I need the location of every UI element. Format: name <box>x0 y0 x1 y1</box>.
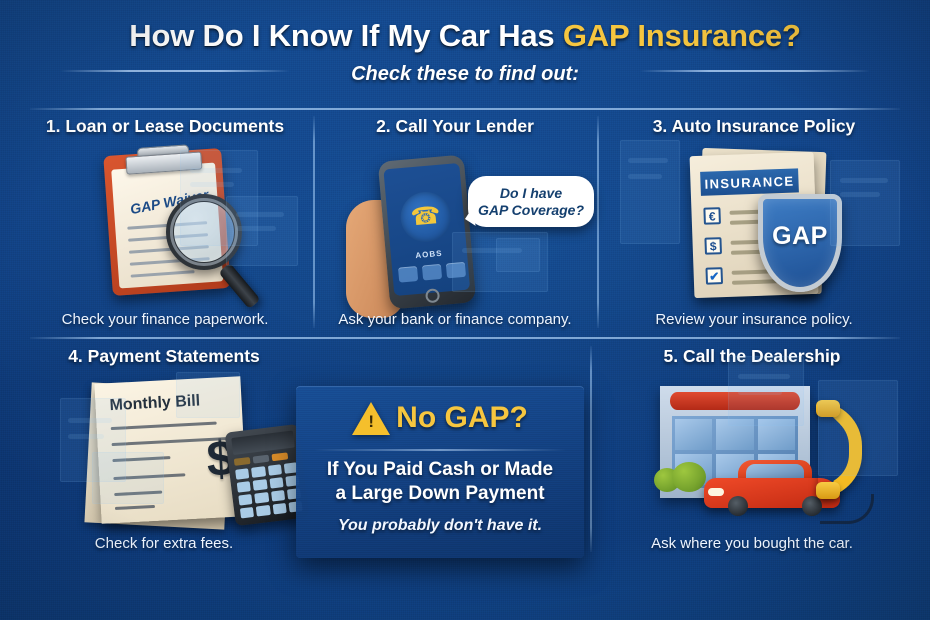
ghost-line <box>738 390 782 395</box>
ghost-line <box>236 212 284 217</box>
ghost-line <box>628 174 662 179</box>
ghost-line <box>190 182 234 187</box>
ghost-line <box>190 168 242 173</box>
ghost-doc <box>496 238 540 272</box>
ghost-line <box>628 158 668 163</box>
ghost-doc <box>226 196 298 266</box>
ghost-doc <box>176 372 240 418</box>
ghost-line <box>840 192 880 197</box>
ghost-line <box>738 374 790 379</box>
ghost-line <box>68 418 112 423</box>
ghost-doc <box>92 452 164 504</box>
ghost-doc <box>620 140 680 244</box>
ghost-line <box>236 226 276 231</box>
ghost-doc <box>818 380 898 476</box>
ghost-doc <box>830 160 900 246</box>
ghost-line <box>840 178 888 183</box>
infographic-poster: How Do I Know If My Car Has GAP Insuranc… <box>0 0 930 620</box>
background-ghost-graphics <box>0 0 930 620</box>
ghost-line <box>68 434 104 439</box>
